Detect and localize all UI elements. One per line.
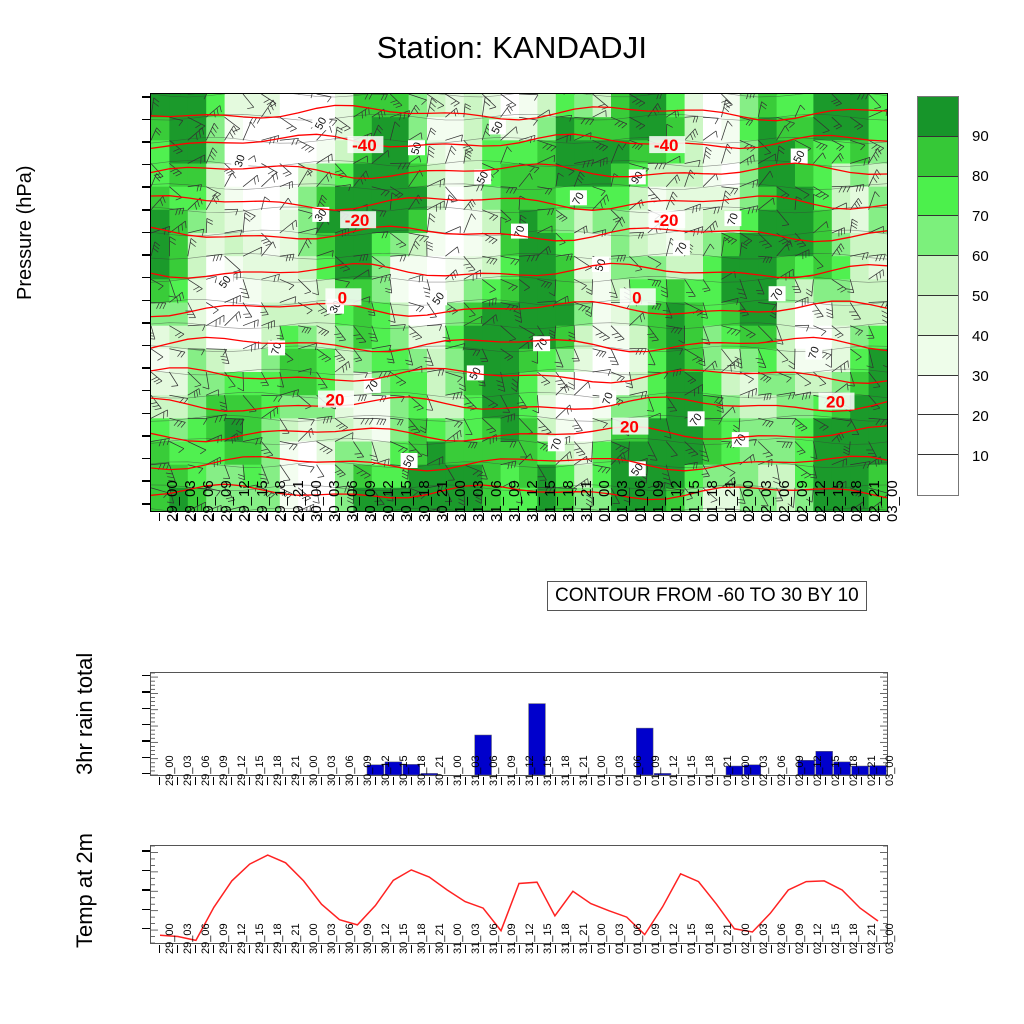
svg-text:0: 0: [632, 288, 641, 307]
time-tick-01_03: 01_03: [614, 480, 631, 522]
time-tick-02_15: 02_15: [830, 755, 842, 786]
time-tick-mark: [843, 945, 844, 953]
time-tick-31_18: 31_18: [560, 923, 572, 954]
time-tick-mark: [195, 945, 196, 953]
humidity-colorbar: [917, 96, 959, 496]
time-tick-29_21: 29_21: [290, 755, 302, 786]
time-tick-mark: [177, 513, 178, 521]
time-tick-mark: [555, 945, 556, 953]
time-tick-31_21: 31_21: [578, 480, 595, 522]
time-tick-30_03: 30_03: [326, 923, 338, 954]
time-tick-mark: [807, 513, 808, 521]
contour-note: CONTOUR FROM -60 TO 30 BY 10: [547, 581, 867, 611]
time-tick-02_21: 02_21: [866, 923, 878, 954]
time-tick-29_00: 29_00: [164, 480, 181, 522]
time-tick-mark: [537, 513, 538, 521]
time-tick-31_03: 31_03: [470, 755, 482, 786]
temp-tick-mark: [142, 928, 150, 929]
time-tick-mark: [609, 777, 610, 785]
colorbar-tick-80: 80: [972, 168, 989, 185]
time-tick-29_03: 29_03: [182, 755, 194, 786]
time-tick-mark: [573, 945, 574, 953]
time-tick-mark: [285, 513, 286, 521]
time-tick-mark: [375, 777, 376, 785]
time-tick-30_18: 30_18: [416, 480, 433, 522]
time-tick-mark: [627, 513, 628, 521]
time-tick-03_00: 03_00: [884, 923, 896, 954]
time-tick-31_15: 31_15: [542, 755, 554, 786]
time-tick-mark: [321, 777, 322, 785]
time-tick-mark: [573, 513, 574, 521]
time-tick-31_12: 31_12: [524, 923, 536, 954]
time-tick-29_12: 29_12: [236, 480, 253, 522]
time-tick-01_21: 01_21: [722, 923, 734, 954]
time-tick-mark: [159, 777, 160, 785]
rain-tick-mark: [142, 724, 150, 725]
time-tick-02_00: 02_00: [740, 923, 752, 954]
time-tick-01_12: 01_12: [668, 480, 685, 522]
time-tick-29_09: 29_09: [218, 755, 230, 786]
time-tick-01_00: 01_00: [596, 480, 613, 522]
time-tick-mark: [843, 513, 844, 521]
time-tick-29_06: 29_06: [200, 480, 217, 522]
colorbar-band-8: [918, 415, 958, 455]
time-tick-mark: [627, 777, 628, 785]
time-tick-31_09: 31_09: [506, 923, 518, 954]
time-tick-mark: [609, 513, 610, 521]
time-tick-01_15: 01_15: [686, 755, 698, 786]
time-tick-31_15: 31_15: [542, 923, 554, 954]
time-tick-mark: [879, 945, 880, 953]
time-tick-30_18: 30_18: [416, 755, 428, 786]
svg-text:-20: -20: [654, 211, 679, 230]
time-tick-31_00: 31_00: [452, 480, 469, 522]
pressure-tick-mark: [142, 503, 150, 505]
time-tick-30_21: 30_21: [434, 480, 451, 522]
time-tick-mark: [537, 777, 538, 785]
time-tick-mark: [303, 945, 304, 953]
time-tick-30_15: 30_15: [398, 755, 410, 786]
time-tick-mark: [861, 777, 862, 785]
pressure-tick-mark: [142, 300, 150, 302]
time-tick-29_06: 29_06: [200, 755, 212, 786]
rain-tick-mark: [142, 691, 150, 692]
colorbar-tick-10: 10: [972, 448, 989, 465]
time-tick-mark: [591, 945, 592, 953]
svg-text:20: 20: [826, 393, 845, 412]
time-tick-01_00: 01_00: [596, 755, 608, 786]
time-tick-29_00: 29_00: [164, 923, 176, 954]
time-tick-02_03: 02_03: [758, 480, 775, 522]
colorbar-band-7: [918, 376, 958, 416]
pressure-tick-mark: [142, 435, 150, 437]
pressure-tick-mark: [142, 96, 150, 98]
time-tick-mark: [303, 513, 304, 521]
time-tick-02_06: 02_06: [776, 923, 788, 954]
temp-tick-mark: [142, 870, 150, 871]
pressure-tick-mark: [142, 458, 150, 460]
time-tick-01_15: 01_15: [686, 923, 698, 954]
time-tick-mark: [519, 945, 520, 953]
time-tick-01_06: 01_06: [632, 755, 644, 786]
rain-tick-mark: [142, 740, 150, 741]
time-tick-02_03: 02_03: [758, 755, 770, 786]
time-tick-mark: [465, 945, 466, 953]
time-tick-mark: [789, 777, 790, 785]
time-tick-03_00: 03_00: [884, 480, 901, 522]
pressure-tick-mark: [142, 480, 150, 482]
time-tick-mark: [717, 945, 718, 953]
colorbar-band-4: [918, 256, 958, 296]
time-tick-01_18: 01_18: [704, 923, 716, 954]
time-tick-mark: [447, 945, 448, 953]
svg-text:-40: -40: [352, 136, 377, 155]
pressure-tick-mark: [142, 164, 150, 166]
time-tick-02_18: 02_18: [848, 755, 860, 786]
time-tick-02_09: 02_09: [794, 755, 806, 786]
time-tick-mark: [177, 945, 178, 953]
colorbar-tick-90: 90: [972, 128, 989, 145]
time-tick-mark: [681, 777, 682, 785]
time-tick-29_15: 29_15: [254, 923, 266, 954]
time-tick-mark: [555, 513, 556, 521]
page-title: Station: KANDADJI: [0, 30, 1024, 66]
time-tick-29_18: 29_18: [272, 480, 289, 522]
time-tick-02_12: 02_12: [812, 755, 824, 786]
time-tick-mark: [591, 777, 592, 785]
time-tick-mark: [159, 513, 160, 521]
time-tick-mark: [663, 945, 664, 953]
time-tick-01_15: 01_15: [686, 480, 703, 522]
time-tick-mark: [699, 945, 700, 953]
pressure-axis-title: Pressure (hPa): [14, 166, 37, 301]
time-tick-02_15: 02_15: [830, 480, 847, 522]
svg-text:20: 20: [326, 391, 345, 410]
time-tick-01_18: 01_18: [704, 480, 721, 522]
svg-text:-40: -40: [654, 136, 679, 155]
time-tick-mark: [825, 777, 826, 785]
time-tick-31_00: 31_00: [452, 923, 464, 954]
time-tick-mark: [465, 513, 466, 521]
time-tick-mark: [177, 777, 178, 785]
time-tick-02_00: 02_00: [740, 755, 752, 786]
time-tick-30_00: 30_00: [308, 480, 325, 522]
time-tick-mark: [519, 777, 520, 785]
time-tick-mark: [843, 777, 844, 785]
time-tick-29_09: 29_09: [218, 480, 235, 522]
pressure-tick-mark: [142, 345, 150, 347]
temp-tick-mark: [142, 909, 150, 910]
time-tick-mark: [699, 513, 700, 521]
pressure-tick-mark: [142, 209, 150, 211]
time-tick-mark: [807, 945, 808, 953]
time-tick-mark: [717, 777, 718, 785]
time-tick-mark: [267, 945, 268, 953]
colorbar-band-0: [918, 97, 958, 137]
time-tick-30_06: 30_06: [344, 923, 356, 954]
time-tick-30_00: 30_00: [308, 755, 320, 786]
time-tick-mark: [447, 513, 448, 521]
time-tick-mark: [465, 777, 466, 785]
time-tick-mark: [591, 513, 592, 521]
time-tick-01_06: 01_06: [632, 480, 649, 522]
time-tick-03_00: 03_00: [884, 755, 896, 786]
time-tick-31_15: 31_15: [542, 480, 559, 522]
time-tick-31_06: 31_06: [488, 755, 500, 786]
time-tick-mark: [825, 945, 826, 953]
time-tick-02_21: 02_21: [866, 755, 878, 786]
time-tick-30_09: 30_09: [362, 755, 374, 786]
time-tick-mark: [231, 513, 232, 521]
time-tick-mark: [753, 513, 754, 521]
svg-text:-20: -20: [345, 211, 370, 230]
time-tick-01_09: 01_09: [650, 923, 662, 954]
time-tick-mark: [771, 513, 772, 521]
time-tick-29_15: 29_15: [254, 480, 271, 522]
time-tick-mark: [735, 513, 736, 521]
colorbar-tick-30: 30: [972, 368, 989, 385]
time-tick-31_09: 31_09: [506, 755, 518, 786]
time-tick-31_18: 31_18: [560, 480, 577, 522]
time-tick-30_12: 30_12: [380, 923, 392, 954]
time-tick-29_06: 29_06: [200, 923, 212, 954]
time-tick-30_18: 30_18: [416, 923, 428, 954]
time-tick-mark: [537, 945, 538, 953]
time-tick-mark: [681, 945, 682, 953]
svg-text:0: 0: [338, 288, 347, 307]
time-tick-29_18: 29_18: [272, 755, 284, 786]
time-tick-31_09: 31_09: [506, 480, 523, 522]
time-tick-31_03: 31_03: [470, 480, 487, 522]
time-tick-31_12: 31_12: [524, 755, 536, 786]
time-tick-mark: [501, 777, 502, 785]
time-tick-mark: [825, 513, 826, 521]
pressure-tick-mark: [142, 390, 150, 392]
pressure-tick-mark: [142, 254, 150, 256]
time-tick-mark: [789, 513, 790, 521]
time-tick-01_18: 01_18: [704, 755, 716, 786]
colorbar-band-6: [918, 336, 958, 376]
time-tick-01_03: 01_03: [614, 923, 626, 954]
time-tick-02_12: 02_12: [812, 923, 824, 954]
time-tick-mark: [357, 777, 358, 785]
time-tick-02_09: 02_09: [794, 923, 806, 954]
time-tick-mark: [627, 945, 628, 953]
time-tick-mark: [699, 777, 700, 785]
time-tick-mark: [411, 513, 412, 521]
time-tick-mark: [375, 513, 376, 521]
time-tick-mark: [861, 513, 862, 521]
time-tick-29_09: 29_09: [218, 923, 230, 954]
pressure-tick-mark: [142, 277, 150, 279]
time-tick-01_00: 01_00: [596, 923, 608, 954]
time-tick-02_00: 02_00: [740, 480, 757, 522]
time-tick-mark: [321, 513, 322, 521]
time-tick-mark: [339, 777, 340, 785]
colorbar-tick-70: 70: [972, 208, 989, 225]
time-tick-30_21: 30_21: [434, 755, 446, 786]
pressure-tick-mark: [142, 322, 150, 324]
time-tick-30_00: 30_00: [308, 923, 320, 954]
time-tick-02_15: 02_15: [830, 923, 842, 954]
time-tick-01_21: 01_21: [722, 755, 734, 786]
time-tick-02_03: 02_03: [758, 923, 770, 954]
time-tick-mark: [231, 945, 232, 953]
rain-tick-mark: [142, 708, 150, 709]
time-tick-02_06: 02_06: [776, 480, 793, 522]
time-tick-mark: [429, 777, 430, 785]
time-tick-30_06: 30_06: [344, 480, 361, 522]
time-tick-30_12: 30_12: [380, 755, 392, 786]
time-tick-29_21: 29_21: [290, 923, 302, 954]
colorbar-band-9: [918, 455, 958, 495]
time-tick-mark: [357, 945, 358, 953]
time-tick-mark: [411, 777, 412, 785]
time-tick-mark: [645, 513, 646, 521]
time-tick-mark: [213, 513, 214, 521]
time-tick-mark: [195, 513, 196, 521]
time-tick-mark: [285, 945, 286, 953]
time-tick-02_09: 02_09: [794, 480, 811, 522]
time-tick-29_00: 29_00: [164, 755, 176, 786]
time-tick-01_12: 01_12: [668, 923, 680, 954]
time-tick-mark: [303, 777, 304, 785]
time-tick-mark: [483, 777, 484, 785]
time-tick-mark: [483, 513, 484, 521]
time-tick-29_03: 29_03: [182, 923, 194, 954]
time-tick-mark: [339, 945, 340, 953]
time-tick-29_03: 29_03: [182, 480, 199, 522]
time-tick-31_03: 31_03: [470, 923, 482, 954]
time-tick-mark: [501, 945, 502, 953]
pressure-tick-mark: [142, 141, 150, 143]
time-tick-mark: [645, 777, 646, 785]
rain-tick-mark: [142, 757, 150, 758]
time-tick-31_21: 31_21: [578, 923, 590, 954]
rain-tick-mark: [142, 675, 150, 676]
time-tick-31_06: 31_06: [488, 923, 500, 954]
time-tick-mark: [807, 777, 808, 785]
time-tick-mark: [213, 777, 214, 785]
time-tick-mark: [735, 945, 736, 953]
time-tick-mark: [879, 777, 880, 785]
time-tick-30_09: 30_09: [362, 923, 374, 954]
time-tick-mark: [789, 945, 790, 953]
time-tick-mark: [771, 945, 772, 953]
time-tick-mark: [393, 945, 394, 953]
time-tick-mark: [249, 945, 250, 953]
vertical-profile-plot: 5030303050505070707050907070705070705070…: [150, 93, 888, 512]
time-tick-mark: [753, 945, 754, 953]
time-tick-mark: [159, 945, 160, 953]
colorbar-tick-20: 20: [972, 408, 989, 425]
time-tick-mark: [339, 513, 340, 521]
time-tick-mark: [429, 513, 430, 521]
time-tick-mark: [393, 777, 394, 785]
time-tick-mark: [645, 945, 646, 953]
time-tick-mark: [771, 777, 772, 785]
time-tick-31_12: 31_12: [524, 480, 541, 522]
time-tick-30_09: 30_09: [362, 480, 379, 522]
time-tick-mark: [393, 513, 394, 521]
time-tick-mark: [267, 777, 268, 785]
time-tick-mark: [735, 777, 736, 785]
time-tick-02_21: 02_21: [866, 480, 883, 522]
pressure-tick-mark: [142, 232, 150, 234]
time-tick-mark: [717, 513, 718, 521]
time-tick-02_18: 02_18: [848, 923, 860, 954]
time-tick-mark: [231, 777, 232, 785]
time-tick-mark: [483, 945, 484, 953]
time-tick-mark: [663, 777, 664, 785]
colorbar-tick-50: 50: [972, 288, 989, 305]
time-tick-mark: [429, 945, 430, 953]
time-tick-30_06: 30_06: [344, 755, 356, 786]
pressure-tick-mark: [142, 186, 150, 188]
time-tick-01_12: 01_12: [668, 755, 680, 786]
time-tick-31_00: 31_00: [452, 755, 464, 786]
time-tick-01_03: 01_03: [614, 755, 626, 786]
time-tick-mark: [411, 945, 412, 953]
time-tick-31_18: 31_18: [560, 755, 572, 786]
time-tick-mark: [267, 513, 268, 521]
time-tick-mark: [321, 945, 322, 953]
time-tick-mark: [573, 777, 574, 785]
temp-axis-title: Temp at 2m: [72, 833, 98, 948]
time-tick-mark: [195, 777, 196, 785]
temp-tick-mark: [142, 889, 150, 890]
profile-canvas: 5030303050505070707050907070705070705070…: [151, 94, 887, 511]
time-tick-02_18: 02_18: [848, 480, 865, 522]
time-tick-mark: [861, 945, 862, 953]
time-tick-mark: [501, 513, 502, 521]
time-tick-01_09: 01_09: [650, 480, 667, 522]
time-tick-30_15: 30_15: [398, 923, 410, 954]
time-tick-mark: [879, 513, 880, 521]
time-tick-31_06: 31_06: [488, 480, 505, 522]
time-tick-mark: [519, 513, 520, 521]
time-tick-29_12: 29_12: [236, 923, 248, 954]
colorbar-band-2: [918, 177, 958, 217]
time-tick-29_18: 29_18: [272, 923, 284, 954]
time-tick-30_12: 30_12: [380, 480, 397, 522]
time-tick-mark: [213, 945, 214, 953]
time-tick-29_15: 29_15: [254, 755, 266, 786]
pressure-tick-mark: [142, 119, 150, 121]
time-tick-30_03: 30_03: [326, 755, 338, 786]
time-tick-mark: [753, 777, 754, 785]
time-tick-01_21: 01_21: [722, 480, 739, 522]
time-tick-01_06: 01_06: [632, 923, 644, 954]
colorbar-tick-40: 40: [972, 328, 989, 345]
colorbar-tick-60: 60: [972, 248, 989, 265]
rain-axis-title: 3hr rain total: [72, 653, 98, 775]
time-tick-mark: [663, 513, 664, 521]
time-tick-01_09: 01_09: [650, 755, 662, 786]
time-tick-mark: [555, 777, 556, 785]
time-tick-30_15: 30_15: [398, 480, 415, 522]
time-tick-mark: [249, 777, 250, 785]
time-tick-mark: [249, 513, 250, 521]
pressure-tick-mark: [142, 367, 150, 369]
time-tick-mark: [285, 777, 286, 785]
pressure-tick-mark: [142, 413, 150, 415]
time-tick-30_21: 30_21: [434, 923, 446, 954]
time-tick-29_21: 29_21: [290, 480, 307, 522]
time-tick-02_12: 02_12: [812, 480, 829, 522]
colorbar-band-1: [918, 137, 958, 177]
time-tick-mark: [609, 945, 610, 953]
